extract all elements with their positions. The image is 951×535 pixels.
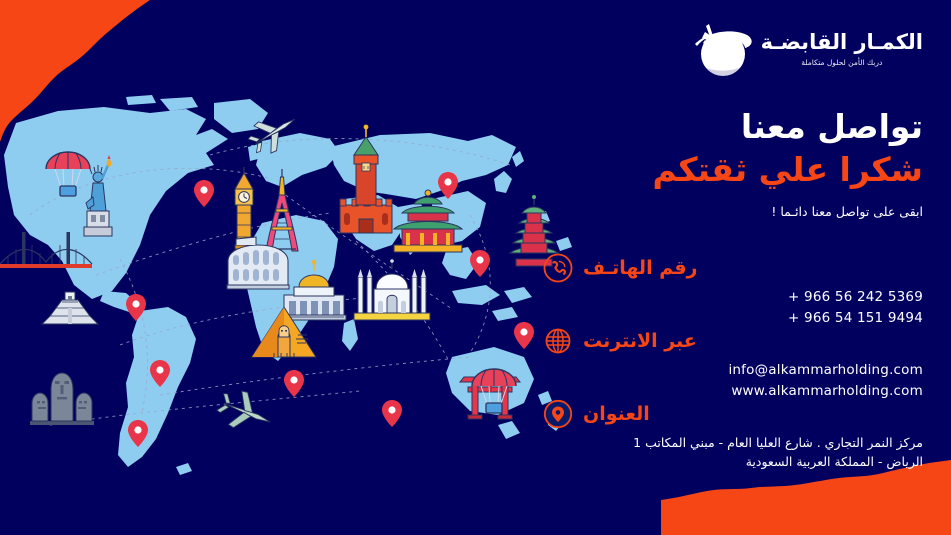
- email-address[interactable]: info@alkammarholding.com: [543, 360, 923, 381]
- contact-group-online: عبر الانترنت info@alkammarholding.com ww…: [543, 326, 923, 402]
- contact-group-address-header: العنوان: [543, 399, 923, 429]
- page-tagline: ابقى على تواصل معنا دائـما !: [543, 204, 923, 219]
- contact-group-online-lines: info@alkammarholding.com www.alkammarhol…: [543, 360, 923, 402]
- contact-group-address: العنوان مركز النمر التجاري . شارع العليا…: [543, 399, 923, 472]
- taj-mahal-icon: [354, 259, 430, 320]
- address-line-1: مركز النمر التجاري . شارع العليا العام -…: [543, 433, 923, 452]
- contact-group-address-title: العنوان: [583, 403, 650, 425]
- contact-panel: الكمـار القابضـة دربك الأمن لحلول متكامل…: [543, 0, 923, 535]
- map-pin: [284, 370, 304, 397]
- contact-group-address-lines: مركز النمر التجاري . شارع العليا العام -…: [543, 433, 923, 472]
- planet-airplane-logo-icon: [683, 20, 755, 82]
- location-pin-icon: [543, 399, 573, 429]
- contact-group-phone-title: رقم الهاتـف: [583, 257, 697, 279]
- map-pin: [514, 322, 534, 349]
- page-title: تواصل معنا: [543, 108, 923, 146]
- map-pin: [194, 180, 214, 207]
- globe-icon: [543, 326, 573, 356]
- contact-group-online-title: عبر الانترنت: [583, 330, 697, 352]
- contact-group-phone-lines: + 966 56 242 5369 + 966 54 151 9494: [543, 287, 923, 329]
- logo-tagline: دربك الأمن لحلول متكاملة: [761, 58, 923, 67]
- map-pin: [470, 250, 490, 277]
- map-pin: [382, 400, 402, 427]
- logo-name: الكمـار القابضـة: [761, 31, 923, 54]
- address-line-2: الرياض - المملكة العربية السعودية: [543, 452, 923, 471]
- company-logo: الكمـار القابضـة دربك الأمن لحلول متكامل…: [683, 20, 923, 82]
- world-map-illustration: [0, 95, 600, 505]
- airplane-south-icon: [213, 384, 277, 439]
- contact-group-phone: رقم الهاتـف + 966 56 242 5369 + 966 54 1…: [543, 253, 923, 329]
- contact-group-phone-header: رقم الهاتـف: [543, 253, 923, 283]
- moai-statues-icon: [30, 373, 94, 425]
- phone-icon: [543, 253, 573, 283]
- big-ben-icon: [235, 167, 253, 249]
- page-subtitle: شكرا علي ثقتكم: [543, 150, 923, 190]
- contact-group-online-header: عبر الانترنت: [543, 326, 923, 356]
- phone-number-1[interactable]: + 966 56 242 5369: [543, 287, 923, 308]
- heading-block: تواصل معنا شكرا علي ثقتكم ابقى على تواصل…: [543, 108, 923, 219]
